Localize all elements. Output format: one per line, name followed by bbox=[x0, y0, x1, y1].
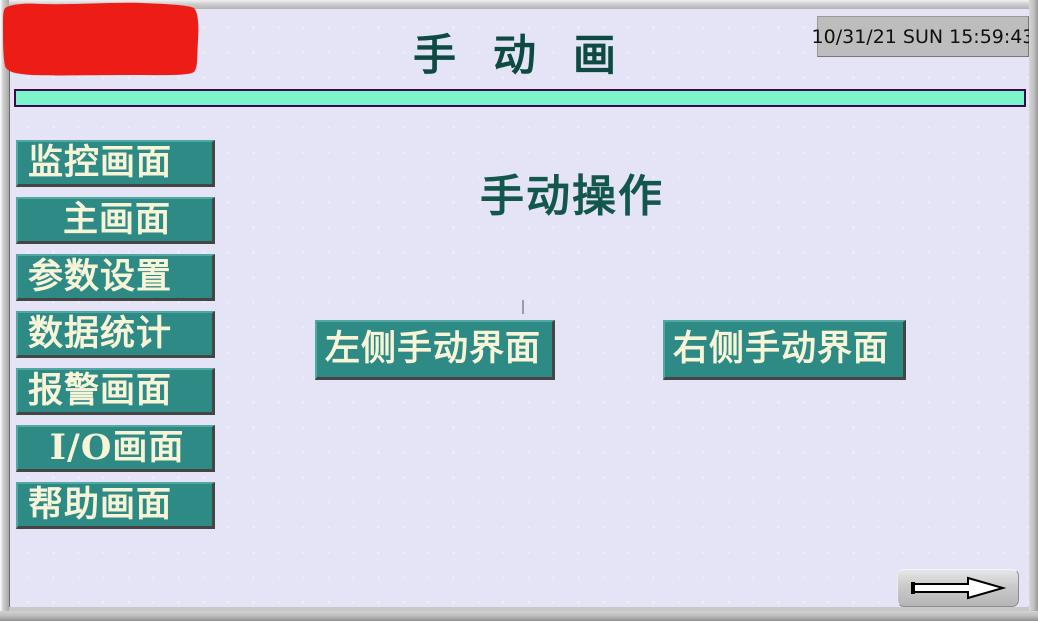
window-frame-right bbox=[1029, 0, 1038, 621]
header-accent-bar bbox=[14, 89, 1026, 107]
manual-left-screen-button[interactable]: 左侧手动界面 bbox=[315, 320, 555, 380]
sidebar-item-label: 参数设置 bbox=[28, 257, 172, 297]
clock-text: 10/31/21 SUN 15:59:43 bbox=[812, 26, 1029, 48]
manual-right-screen-button-label: 右侧手动界面 bbox=[673, 324, 889, 374]
manual-right-screen-button[interactable]: 右侧手动界面 bbox=[663, 320, 906, 380]
window-frame-left bbox=[0, 0, 9, 621]
sidebar-item-label: 报警画面 bbox=[28, 371, 172, 411]
window-frame-top bbox=[0, 0, 1038, 9]
manual-left-screen-button-label: 左侧手动界面 bbox=[325, 324, 541, 374]
sidebar-item-label: 数据统计 bbox=[28, 314, 172, 354]
next-page-button[interactable] bbox=[897, 569, 1019, 607]
sidebar-item-main-screen[interactable]: 主画面 bbox=[16, 197, 215, 244]
hmi-screen: 手 动 画 10/31/21 SUN 15:59:43 监控画面 主画面 参数设… bbox=[9, 9, 1029, 607]
sidebar-item-label: 主画面 bbox=[63, 200, 171, 240]
clock-display: 10/31/21 SUN 15:59:43 bbox=[817, 16, 1029, 57]
sidebar-item-io-screen[interactable]: I/O画面 bbox=[16, 425, 215, 472]
sidebar-item-data-statistics[interactable]: 数据统计 bbox=[16, 311, 215, 358]
arrow-right-icon bbox=[910, 576, 1006, 600]
sidebar-item-parameter-settings[interactable]: 参数设置 bbox=[16, 254, 215, 301]
sidebar-item-label: 帮助画面 bbox=[28, 485, 172, 525]
sidebar-item-alarm-screen[interactable]: 报警画面 bbox=[16, 368, 215, 415]
sidebar-item-label: 监控画面 bbox=[28, 143, 172, 183]
sidebar-item-monitor-screen[interactable]: 监控画面 bbox=[16, 140, 215, 187]
alignment-tick-mark bbox=[522, 300, 524, 314]
hmi-window: 手 动 画 10/31/21 SUN 15:59:43 监控画面 主画面 参数设… bbox=[0, 0, 1038, 621]
sidebar-item-help-screen[interactable]: 帮助画面 bbox=[16, 482, 215, 529]
sidebar-nav: 监控画面 主画面 参数设置 数据统计 报警画面 I/O画面 帮助画面 bbox=[16, 140, 222, 539]
window-frame-bottom bbox=[0, 611, 1038, 621]
content-heading: 手动操作 bbox=[480, 167, 800, 231]
content-heading-text: 手动操作 bbox=[480, 171, 664, 222]
sidebar-item-label: I/O画面 bbox=[50, 428, 185, 468]
